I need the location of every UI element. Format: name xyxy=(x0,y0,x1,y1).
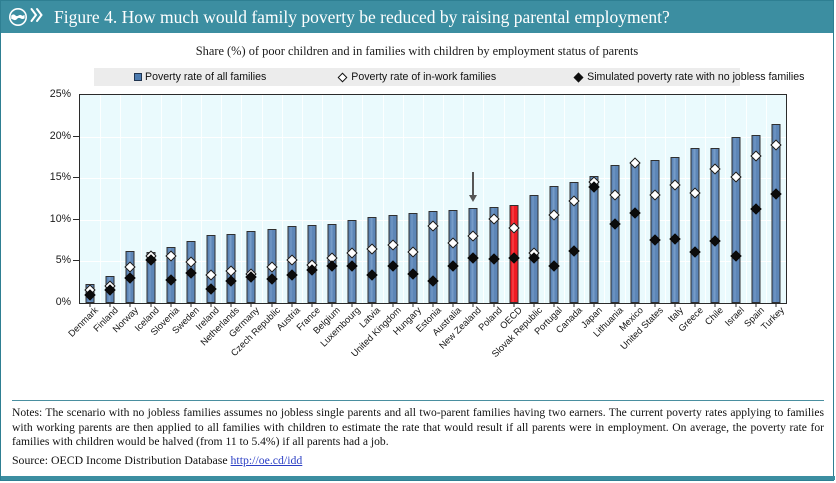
figure-card: Figure 4. How much would family poverty … xyxy=(0,0,834,481)
y-axis-tick-label: 25% xyxy=(37,88,71,100)
chart-bar-group[interactable] xyxy=(645,95,665,303)
chart-bar-group[interactable] xyxy=(544,95,564,303)
chart-bar-group[interactable] xyxy=(181,95,201,303)
chart-bar[interactable] xyxy=(590,176,599,303)
chart-bar-group[interactable] xyxy=(302,95,322,303)
chart-bar[interactable] xyxy=(650,160,659,303)
source-prefix: Source: OECD Income Distribution Databas… xyxy=(12,453,228,467)
y-axis-tick-label: 10% xyxy=(37,213,71,225)
chart-bar-group[interactable] xyxy=(604,95,624,303)
x-axis-label: Chile xyxy=(703,305,725,327)
chart-bar[interactable] xyxy=(388,215,397,303)
x-axis-labels: DenmarkFinlandNorwayIcelandSloveniaSwede… xyxy=(79,305,787,387)
chart-bar-group[interactable] xyxy=(262,95,282,303)
chart-bar-group[interactable] xyxy=(322,95,342,303)
chart-bar[interactable] xyxy=(771,124,780,303)
chart-bar-group[interactable] xyxy=(100,95,120,303)
chart-bar[interactable] xyxy=(691,148,700,303)
open-diamond-icon xyxy=(338,72,348,82)
legend-label: Poverty rate of in-work families xyxy=(351,71,496,83)
chart-bar-group[interactable] xyxy=(80,95,100,303)
chart-bar-group[interactable] xyxy=(725,95,745,303)
chart-bar[interactable] xyxy=(368,217,377,303)
y-axis-tick-label: 15% xyxy=(37,171,71,183)
chart-bar[interactable] xyxy=(630,162,639,303)
chart-bar-group[interactable] xyxy=(443,95,463,303)
chart-bar-group[interactable] xyxy=(625,95,645,303)
legend-item-in-work-families: Poverty rate of in-work families xyxy=(338,71,496,83)
legend-item-all-families: Poverty rate of all families xyxy=(134,71,266,83)
notes-divider xyxy=(12,400,824,401)
page-title: Figure 4. How much would family poverty … xyxy=(54,7,670,28)
chart-bar[interactable] xyxy=(408,213,417,303)
globe-icon xyxy=(8,7,28,27)
chart-bar-group[interactable] xyxy=(584,95,604,303)
chart-bar-group[interactable] xyxy=(221,95,241,303)
source-link[interactable]: http://oe.cd/idd xyxy=(231,453,303,467)
chart-bar-group[interactable] xyxy=(423,95,443,303)
chart-bar-group[interactable] xyxy=(403,95,423,303)
chart-bar-group[interactable] xyxy=(120,95,140,303)
legend-label: Poverty rate of all families xyxy=(145,71,266,83)
chart-bar-group[interactable] xyxy=(383,95,403,303)
chart-legend: Poverty rate of all families Poverty rat… xyxy=(94,68,740,86)
chart-bar-group[interactable] xyxy=(564,95,584,303)
chart-bar-group[interactable] xyxy=(201,95,221,303)
chart-bar-group[interactable] xyxy=(705,95,725,303)
chart-area: 0%5%10%15%20%25% DenmarkFinlandNorwayIce… xyxy=(1,86,835,386)
chart-bar[interactable] xyxy=(449,210,458,303)
plot-area xyxy=(79,94,787,304)
chart-bar-group[interactable] xyxy=(746,95,766,303)
chart-bar-group[interactable] xyxy=(362,95,382,303)
chart-bar-group[interactable] xyxy=(161,95,181,303)
chart-bar-group[interactable] xyxy=(504,95,524,303)
chart-bar-group[interactable] xyxy=(665,95,685,303)
bar-series xyxy=(80,95,786,303)
chart-bar[interactable] xyxy=(731,137,740,303)
y-axis-tick-label: 20% xyxy=(37,130,71,142)
chart-bar[interactable] xyxy=(247,231,256,303)
chart-bar-group[interactable] xyxy=(141,95,161,303)
chart-subtitle: Share (%) of poor children and in famili… xyxy=(1,44,833,59)
chart-bar-group[interactable] xyxy=(766,95,786,303)
bar-swatch-icon xyxy=(134,73,142,81)
figure-source: Source: OECD Income Distribution Databas… xyxy=(12,453,302,468)
chart-bar[interactable] xyxy=(610,165,619,303)
chart-bar-group[interactable] xyxy=(483,95,503,303)
chart-bar-group[interactable] xyxy=(524,95,544,303)
filled-diamond-icon xyxy=(574,72,584,82)
chart-bar-group[interactable] xyxy=(685,95,705,303)
chart-bar-group[interactable] xyxy=(282,95,302,303)
wave-chevron-icon xyxy=(30,6,47,29)
legend-item-no-jobless-families: Simulated poverty rate with no jobless f… xyxy=(574,71,804,83)
figure-header: Figure 4. How much would family poverty … xyxy=(1,1,833,33)
legend-label: Simulated poverty rate with no jobless f… xyxy=(587,71,804,83)
chart-bar[interactable] xyxy=(550,186,559,303)
x-axis-label: Israel xyxy=(722,305,745,328)
figure-notes: Notes: The scenario with no jobless fami… xyxy=(12,406,824,450)
chart-bar-group[interactable] xyxy=(241,95,261,303)
chart-bar-group[interactable] xyxy=(342,95,362,303)
y-axis-tick-label: 5% xyxy=(37,254,71,266)
bottom-rule xyxy=(1,476,835,480)
y-axis-tick-label: 0% xyxy=(37,296,71,308)
